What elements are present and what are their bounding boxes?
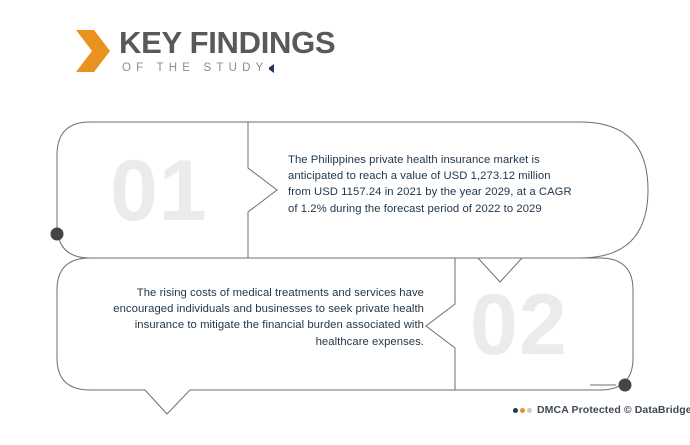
card-2-divider-arrow — [426, 258, 455, 390]
subtitle-mark-icon — [268, 64, 275, 73]
page-subtitle: OF THE STUDY — [122, 61, 269, 75]
dmca-badge[interactable]: DMCA Protected © DataBridge — [513, 404, 690, 416]
chevron-right-icon — [74, 28, 112, 74]
header: KEY FINDINGS OF THE STUDY — [74, 26, 335, 75]
dmca-dot-3 — [527, 408, 532, 413]
page-subtitle-row: OF THE STUDY — [119, 61, 335, 75]
finding-2-number: 02 — [470, 282, 568, 368]
finding-1-text: The Philippines private health insurance… — [288, 152, 576, 217]
timeline-dot-left-icon — [51, 228, 64, 241]
dmca-dot-2 — [520, 408, 525, 413]
finding-1-number: 01 — [110, 148, 208, 234]
timeline-dot-right-icon — [619, 379, 632, 392]
finding-2-text: The rising costs of medical treatments a… — [92, 285, 424, 350]
card-1-divider-arrow — [248, 122, 277, 258]
header-text-group: KEY FINDINGS OF THE STUDY — [119, 26, 335, 75]
dmca-badge-label: DMCA Protected © DataBridge — [537, 404, 690, 416]
dmca-dots-icon — [513, 408, 532, 413]
infographic-canvas: KEY FINDINGS OF THE STUDY 01 The Philipp… — [0, 0, 690, 445]
dmca-dot-1 — [513, 408, 518, 413]
page-title: KEY FINDINGS — [119, 26, 335, 60]
